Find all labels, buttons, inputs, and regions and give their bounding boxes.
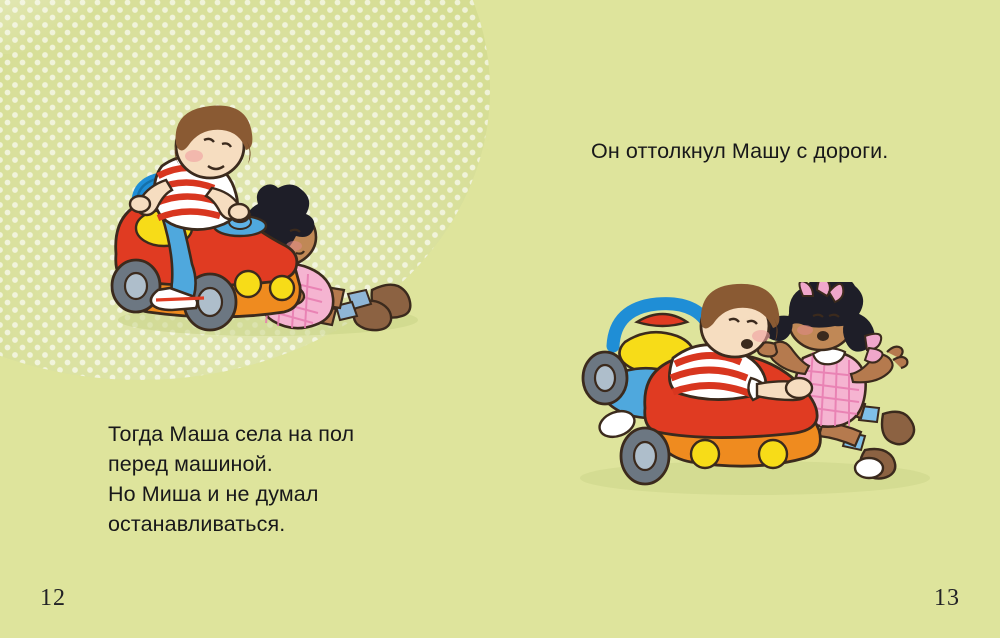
girl-boot-back <box>882 412 914 445</box>
right-page-story-text: Он оттолкнул Машу с дороги. <box>591 136 971 166</box>
girl-shoe <box>855 458 883 478</box>
car-wheel-right-front <box>621 428 669 484</box>
girl-mouth-right <box>817 331 829 341</box>
boy-cheek-right <box>752 330 770 342</box>
car-handle-grip <box>637 314 687 326</box>
page-number-left: 12 <box>40 585 66 612</box>
illustration-boy-pushing-girl-away <box>565 282 940 497</box>
headlight-right-1 <box>691 440 719 468</box>
boy-mouth-right <box>741 339 753 349</box>
left-page-story-text: Тогда Маша села на пол перед машиной. Но… <box>108 419 438 539</box>
book-spread: Тогда Маша села на пол перед машиной. Но… <box>0 0 1000 638</box>
boy-hand <box>786 378 812 398</box>
headlight-right-2 <box>759 440 787 468</box>
boy-cheek <box>185 150 203 162</box>
headlight-1 <box>235 271 261 297</box>
page-number-right: 13 <box>934 585 960 612</box>
car-wheel-right-rear <box>583 352 627 404</box>
illustration-boy-pushing-girl-with-car <box>96 104 426 350</box>
headlight-2 <box>270 276 294 300</box>
